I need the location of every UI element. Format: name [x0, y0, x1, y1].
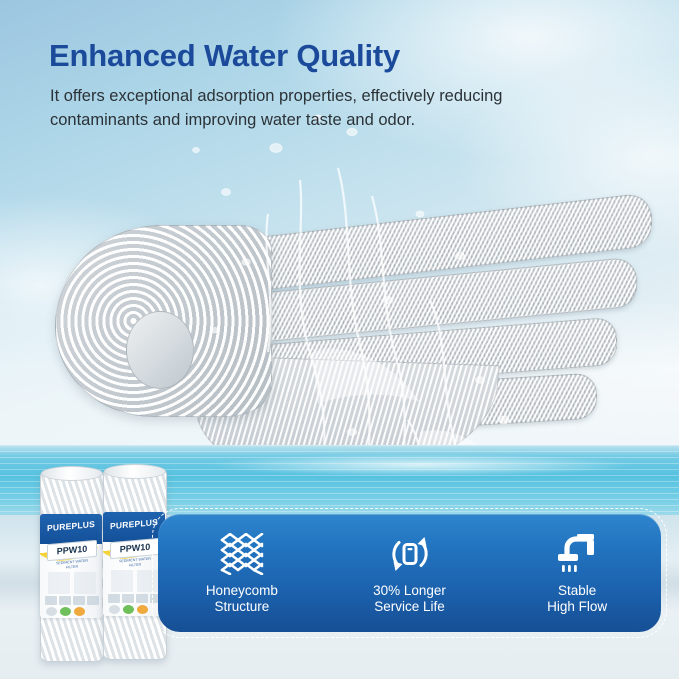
certification-badge — [46, 607, 57, 616]
rolled-filter-media — [55, 225, 272, 417]
label-icon — [136, 594, 148, 603]
honeycomb-mesh-icon — [218, 532, 266, 576]
label-icon — [73, 596, 85, 605]
spec-box — [48, 572, 70, 594]
spec-box — [111, 570, 133, 592]
certification-badge — [74, 607, 85, 616]
feature-label-service-life: 30% Longer Service Life — [373, 583, 446, 615]
product-feature-banner: Enhanced Water Quality It offers excepti… — [0, 0, 679, 679]
cartridge-label: PUREPLUS PPW10 SEDIMENT WATER FILTER — [40, 514, 102, 618]
label-icon — [87, 596, 99, 605]
feature-line-1: Stable — [547, 583, 607, 599]
feature-item-service-life: 30% Longer Service Life — [326, 532, 494, 615]
feature-line-1: Honeycomb — [206, 583, 278, 599]
cartridge-top-cap — [41, 466, 103, 481]
label-icon — [122, 594, 134, 603]
feature-label-high-flow: Stable High Flow — [547, 583, 607, 615]
feature-line-2: Service Life — [373, 599, 446, 615]
feature-line-2: Structure — [206, 599, 278, 615]
brand-name: PUREPLUS — [40, 518, 102, 533]
feature-item-high-flow: Stable High Flow — [493, 532, 661, 615]
filter-cartridge-1: PUREPLUS PPW10 SEDIMENT WATER FILTER — [40, 470, 102, 660]
feature-item-honeycomb: Honeycomb Structure — [158, 532, 326, 615]
cartridge-top-cap — [104, 464, 166, 479]
filter-media-illustration — [45, 195, 645, 435]
feature-bar-panel: Honeycomb Structure — [158, 514, 661, 632]
feature-label-honeycomb: Honeycomb Structure — [206, 583, 278, 615]
label-icon — [108, 594, 120, 603]
label-spec-row — [48, 572, 96, 594]
label-icon — [59, 596, 71, 605]
certification-badge — [123, 605, 134, 614]
certification-badge — [109, 605, 120, 614]
label-icon — [45, 596, 57, 605]
feature-line-1: 30% Longer — [373, 583, 446, 599]
label-badge-row — [46, 606, 98, 616]
page-subtitle: It offers exceptional adsorption propert… — [50, 84, 595, 132]
feature-bar: Honeycomb Structure — [152, 508, 667, 638]
label-icon-row — [45, 596, 99, 605]
faucet-icon — [554, 532, 600, 576]
feature-line-2: High Flow — [547, 599, 607, 615]
page-title: Enhanced Water Quality — [49, 38, 400, 74]
recycle-cartridge-icon — [388, 532, 432, 576]
spec-box — [74, 572, 96, 594]
roll-core — [126, 311, 194, 389]
certification-badge — [137, 605, 148, 614]
certification-badge — [60, 607, 71, 616]
